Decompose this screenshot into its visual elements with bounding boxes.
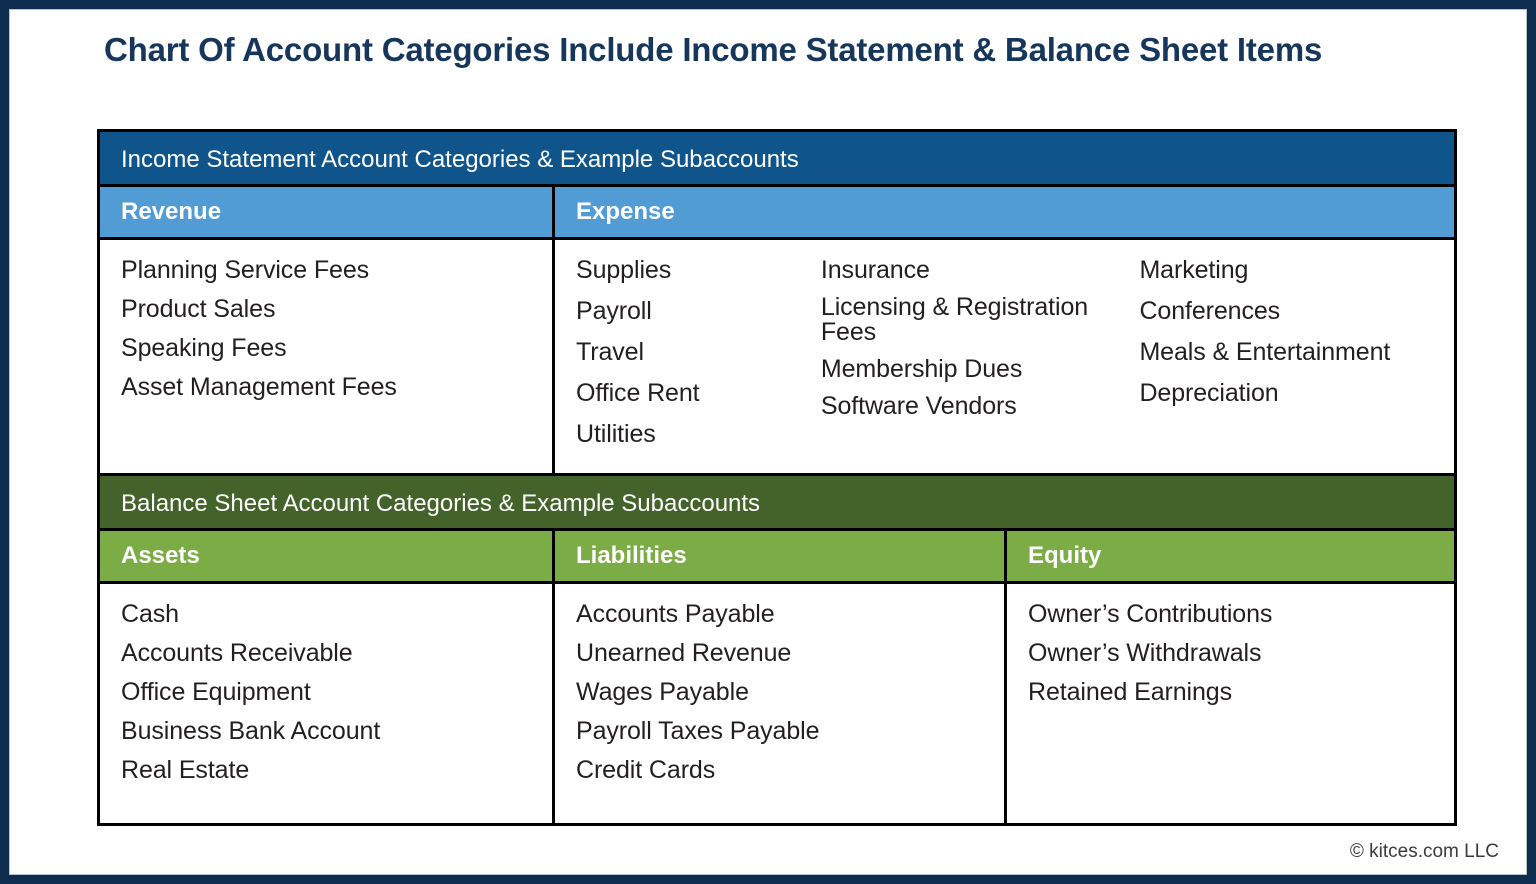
list-item: Insurance: [821, 258, 1140, 295]
infographic-page: Chart Of Account Categories Include Inco…: [0, 0, 1536, 884]
list-item: Payroll Taxes Payable: [576, 719, 1004, 758]
list-item: Depreciation: [1139, 381, 1454, 422]
list-item: Speaking Fees: [121, 336, 552, 375]
list-item: Marketing: [1139, 258, 1454, 299]
balance-sheet-table: Balance Sheet Account Categories & Examp…: [97, 473, 1457, 826]
list-item: Accounts Receivable: [121, 641, 552, 680]
income-statement-column-headers: Revenue Expense: [100, 187, 1454, 240]
list-item: Wages Payable: [576, 680, 1004, 719]
column-header-assets: Assets: [100, 531, 552, 581]
expense-subcolumn-2: Insurance Licensing & Registration Fees …: [821, 258, 1140, 463]
cell-assets-items: Cash Accounts Receivable Office Equipmen…: [100, 584, 552, 823]
list-item: Real Estate: [121, 758, 552, 797]
column-header-expense: Expense: [552, 187, 1454, 237]
expense-subcolumn-1: Supplies Payroll Travel Office Rent Util…: [576, 258, 821, 463]
expense-item-list-3: Marketing Conferences Meals & Entertainm…: [1139, 258, 1454, 422]
column-header-revenue: Revenue: [100, 187, 552, 237]
list-item: Planning Service Fees: [121, 258, 552, 297]
list-item: Utilities: [576, 422, 821, 463]
cell-expense-items: Supplies Payroll Travel Office Rent Util…: [552, 240, 1454, 489]
list-item: Licensing & Registration Fees: [821, 295, 1140, 357]
revenue-item-list: Planning Service Fees Product Sales Spea…: [121, 258, 552, 414]
balance-sheet-table-header: Balance Sheet Account Categories & Examp…: [100, 476, 1454, 531]
list-item: Payroll: [576, 299, 821, 340]
list-item: Meals & Entertainment: [1139, 340, 1454, 381]
list-item: Software Vendors: [821, 394, 1140, 431]
list-item: Cash: [121, 602, 552, 641]
list-item: Credit Cards: [576, 758, 1004, 797]
list-item: Business Bank Account: [121, 719, 552, 758]
expense-subcolumn-3: Marketing Conferences Meals & Entertainm…: [1139, 258, 1454, 463]
income-statement-table: Income Statement Account Categories & Ex…: [97, 129, 1457, 492]
list-item: Office Rent: [576, 381, 821, 422]
column-header-liabilities: Liabilities: [552, 531, 1004, 581]
list-item: Accounts Payable: [576, 602, 1004, 641]
cell-equity-items: Owner’s Contributions Owner’s Withdrawal…: [1004, 584, 1454, 823]
list-item: Asset Management Fees: [121, 375, 552, 414]
list-item: Owner’s Contributions: [1028, 602, 1454, 641]
liabilities-item-list: Accounts Payable Unearned Revenue Wages …: [576, 602, 1004, 797]
list-item: Membership Dues: [821, 357, 1140, 394]
copyright-credit: © kitces.com LLC: [1350, 841, 1499, 863]
page-title: Chart Of Account Categories Include Inco…: [104, 31, 1454, 69]
income-statement-body: Planning Service Fees Product Sales Spea…: [100, 240, 1454, 489]
list-item: Supplies: [576, 258, 821, 299]
balance-sheet-column-headers: Assets Liabilities Equity: [100, 531, 1454, 584]
balance-sheet-body: Cash Accounts Receivable Office Equipmen…: [100, 584, 1454, 823]
expense-item-list-2: Insurance Licensing & Registration Fees …: [821, 258, 1140, 431]
column-header-equity: Equity: [1004, 531, 1454, 581]
list-item: Unearned Revenue: [576, 641, 1004, 680]
expense-item-list-1: Supplies Payroll Travel Office Rent Util…: [576, 258, 821, 463]
expense-subcolumns: Supplies Payroll Travel Office Rent Util…: [576, 258, 1454, 463]
list-item: Conferences: [1139, 299, 1454, 340]
page-inner-frame: Chart Of Account Categories Include Inco…: [9, 9, 1527, 875]
list-item: Retained Earnings: [1028, 680, 1454, 719]
list-item: Office Equipment: [121, 680, 552, 719]
list-item: Travel: [576, 340, 821, 381]
list-item: Owner’s Withdrawals: [1028, 641, 1454, 680]
equity-item-list: Owner’s Contributions Owner’s Withdrawal…: [1028, 602, 1454, 719]
cell-liabilities-items: Accounts Payable Unearned Revenue Wages …: [552, 584, 1004, 823]
cell-revenue-items: Planning Service Fees Product Sales Spea…: [100, 240, 552, 489]
assets-item-list: Cash Accounts Receivable Office Equipmen…: [121, 602, 552, 797]
list-item: Product Sales: [121, 297, 552, 336]
income-statement-table-header: Income Statement Account Categories & Ex…: [100, 132, 1454, 187]
